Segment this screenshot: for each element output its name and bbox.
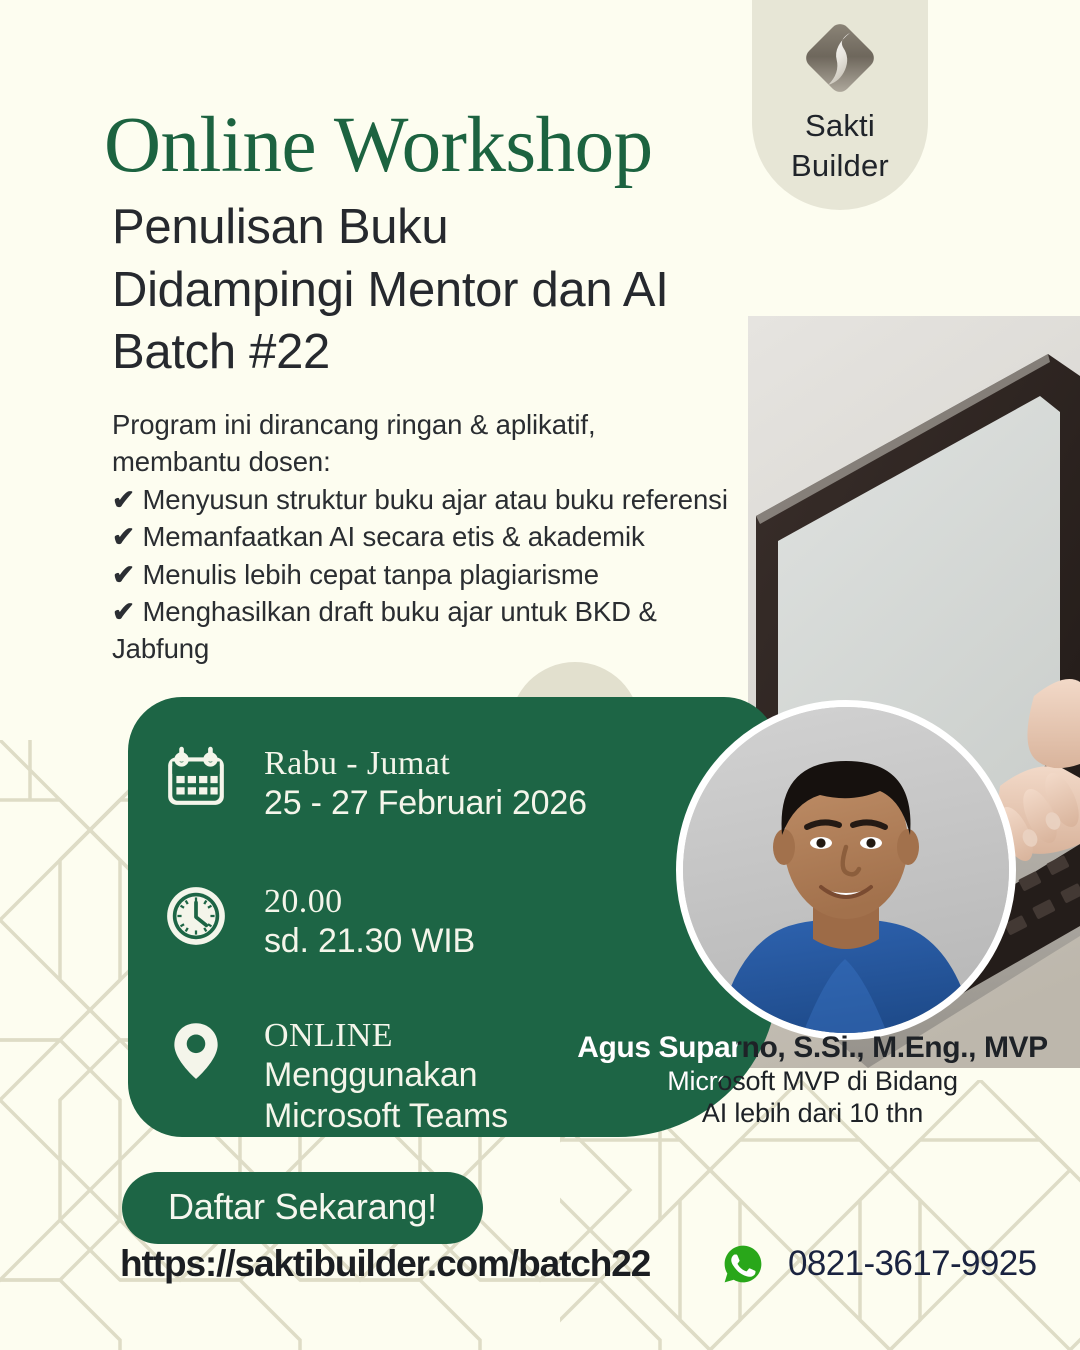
whatsapp-phone-number[interactable]: 0821-3617-9925 bbox=[788, 1244, 1037, 1284]
check-icon: ✔ bbox=[112, 484, 135, 515]
time-primary: 20.00 bbox=[264, 883, 475, 921]
whatsapp-icon[interactable] bbox=[722, 1243, 764, 1285]
subtitle-line-1: Penulisan Buku bbox=[112, 196, 669, 259]
date-primary: Rabu - Jumat bbox=[264, 745, 587, 783]
logo-badge: Sakti Builder bbox=[752, 0, 928, 210]
benefit-label: Menghasilkan draft buku ajar untuk BKD &… bbox=[112, 596, 657, 664]
benefit-item: ✔ Menulis lebih cepat tanpa plagiarisme bbox=[112, 556, 760, 593]
date-secondary: 25 - 27 Februari 2026 bbox=[264, 783, 587, 824]
location-secondary-2: Microsoft Teams bbox=[264, 1096, 508, 1137]
intro-line-1: Program ini dirancang ringan & aplikatif… bbox=[112, 406, 760, 443]
whatsapp-contact[interactable]: 0821-3617-9925 bbox=[722, 1243, 1037, 1285]
page-subtitle: Penulisan Buku Didampingi Mentor dan AI … bbox=[112, 196, 669, 384]
program-description: Program ini dirancang ringan & aplikatif… bbox=[112, 406, 760, 668]
time-secondary: sd. 21.30 WIB bbox=[264, 921, 475, 962]
benefit-label: Menulis lebih cepat tanpa plagiarisme bbox=[143, 559, 599, 590]
calendar-icon bbox=[158, 745, 234, 811]
location-primary: ONLINE bbox=[264, 1017, 508, 1055]
poster-canvas: Sakti Builder Online Workshop Penulisan … bbox=[0, 0, 1080, 1350]
speaker-portrait bbox=[676, 700, 1016, 1040]
subtitle-line-2: Didampingi Mentor dan AI bbox=[112, 259, 669, 322]
register-button[interactable]: Daftar Sekarang! bbox=[122, 1172, 483, 1244]
diamond-swirl-logo-icon bbox=[798, 16, 882, 100]
detail-row-date: Rabu - Jumat 25 - 27 Februari 2026 bbox=[158, 745, 587, 824]
benefit-label: Menyusun struktur buku ajar atau buku re… bbox=[143, 484, 728, 515]
logo-line-2: Builder bbox=[752, 146, 928, 186]
clock-icon bbox=[158, 883, 234, 949]
detail-row-time: 20.00 sd. 21.30 WIB bbox=[158, 883, 475, 962]
detail-row-location: ONLINE Menggunakan Microsoft Teams bbox=[158, 1017, 508, 1137]
check-icon: ✔ bbox=[112, 596, 135, 627]
benefit-item: ✔ Menghasilkan draft buku ajar untuk BKD… bbox=[112, 593, 760, 668]
intro-line-2: membantu dosen: bbox=[112, 443, 760, 480]
benefit-label: Memanfaatkan AI secara etis & akademik bbox=[143, 521, 645, 552]
page-title: Online Workshop bbox=[104, 106, 653, 185]
detail-text-time: 20.00 sd. 21.30 WIB bbox=[264, 883, 475, 962]
logo-line-1: Sakti bbox=[752, 106, 928, 146]
subtitle-line-3: Batch #22 bbox=[112, 321, 669, 384]
check-icon: ✔ bbox=[112, 521, 135, 552]
check-icon: ✔ bbox=[112, 559, 135, 590]
benefit-item: ✔ Menyusun struktur buku ajar atau buku … bbox=[112, 481, 760, 518]
detail-text-location: ONLINE Menggunakan Microsoft Teams bbox=[264, 1017, 508, 1137]
location-secondary: Menggunakan bbox=[264, 1055, 508, 1096]
logo-text: Sakti Builder bbox=[752, 106, 928, 185]
detail-text-date: Rabu - Jumat 25 - 27 Februari 2026 bbox=[264, 745, 587, 824]
location-pin-icon bbox=[158, 1017, 234, 1083]
benefit-item: ✔ Memanfaatkan AI secara etis & akademik bbox=[112, 518, 760, 555]
registration-url[interactable]: https://saktibuilder.com/batch22 bbox=[120, 1243, 650, 1285]
